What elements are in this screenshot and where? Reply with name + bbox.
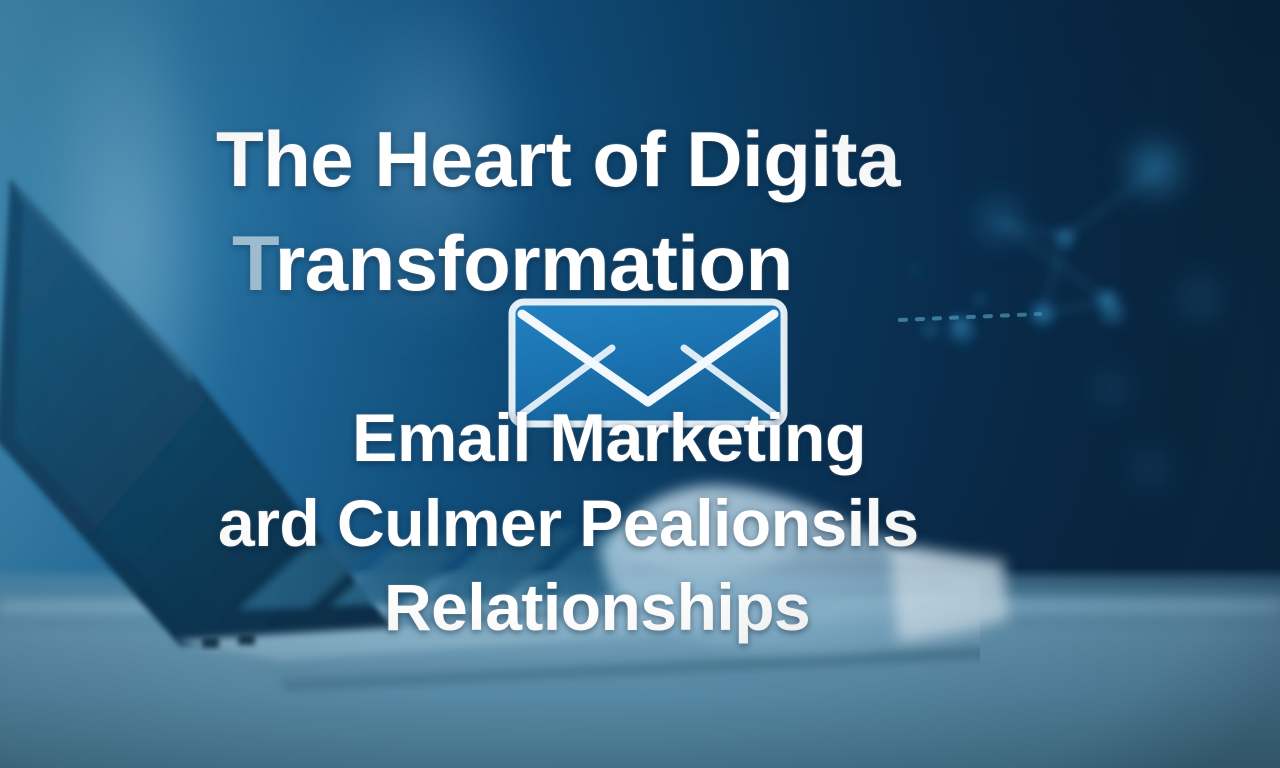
headline-line-1: The Heart of Digita [216,118,900,200]
subhead-line-2: ard Culmer Pealionsils [218,488,919,558]
subhead-line-3: Relationships [384,572,810,642]
headline-line-2: Transformation [232,222,793,304]
headline-line-2-prefix: T [232,219,275,307]
text-overlay: The Heart of Digita Transformation Email… [0,0,1280,768]
headline-line-2-rest: ransformation [275,219,793,307]
banner-canvas: The Heart of Digita Transformation Email… [0,0,1280,768]
subhead-line-1: Email Marketing [352,402,866,474]
